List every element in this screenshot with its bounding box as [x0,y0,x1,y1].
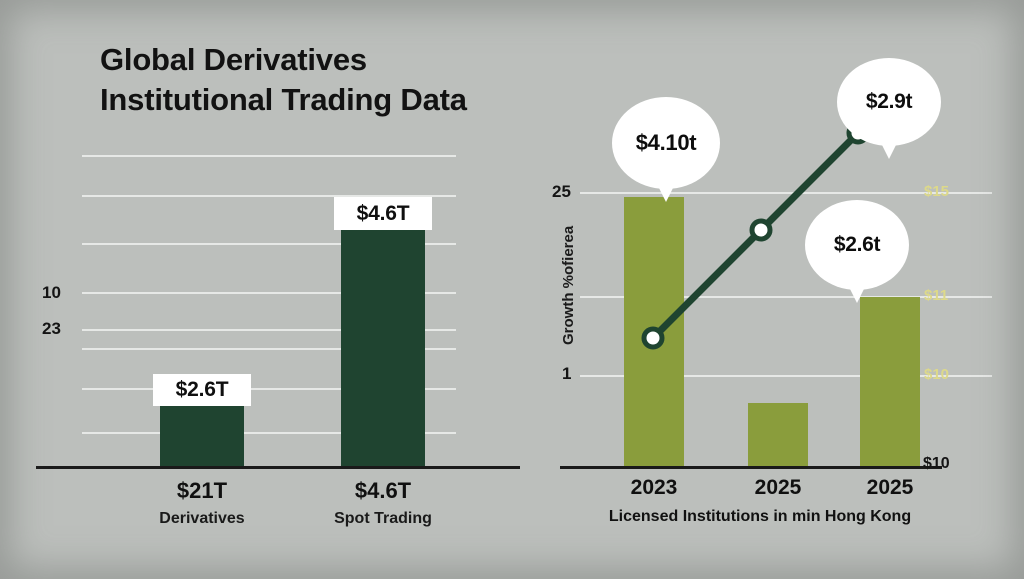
category-name-derivatives: Derivatives [132,510,272,528]
bar-spot-trading [341,229,425,466]
line-marker-2023 [644,329,662,347]
right-chart-panel: 25 1 Growth %ofierea $15 $11 $10 $4.10t … [512,0,1024,579]
title-line-2: Institutional Trading Data [100,80,530,120]
line-marker-2025-a [752,221,770,239]
bar-value-chip-spot-trading: $4.6T [334,197,432,230]
growth-line-series [512,0,1024,579]
callout-bubble-1-label: $4.10t [636,130,697,156]
page-title: Global Derivatives Institutional Trading… [100,40,530,119]
callout-bubble-3: $2.6t [805,200,909,290]
left-y-axis-label-0: 10 [42,283,61,303]
category-value-derivatives: $21T [132,478,272,504]
callout-bubble-3-label: $2.6t [834,233,880,257]
callout-bubble-2-label: $2.9t [866,90,912,114]
bar-value-chip-derivatives: $2.6T [153,374,251,406]
callout-tail-icon [657,184,675,202]
callout-bubble-2: $2.9t [837,58,941,146]
left-y-axis-label-1: 23 [42,319,61,339]
category-name-spot-trading: Spot Trading [313,510,453,528]
chart-infographic: Global Derivatives Institutional Trading… [0,0,1024,579]
gridline [82,155,456,157]
title-line-1: Global Derivatives [100,40,530,80]
callout-tail-icon [848,285,866,303]
left-chart-baseline [36,466,520,469]
callout-tail-icon [880,141,898,159]
category-value-spot-trading: $4.6T [313,478,453,504]
bar-derivatives [160,403,244,466]
callout-bubble-1: $4.10t [612,97,720,189]
